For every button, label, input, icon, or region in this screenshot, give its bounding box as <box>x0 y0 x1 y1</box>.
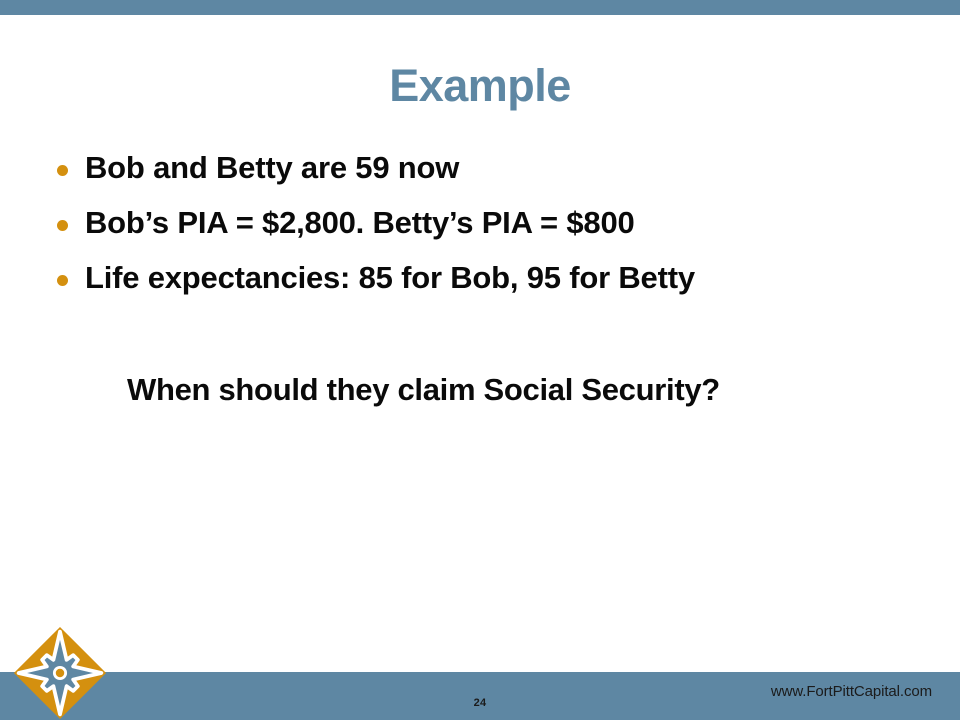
page-title: Example <box>0 62 960 109</box>
list-item-label: Bob and Betty are 59 now <box>85 150 928 187</box>
list-item-label: Bob’s PIA = $2,800. Betty’s PIA = $800 <box>85 205 928 242</box>
bullet-dot-icon <box>57 165 68 176</box>
list-item-label: Life expectancies: 85 for Bob, 95 for Be… <box>85 260 928 297</box>
footer-website-url: www.FortPittCapital.com <box>771 683 932 700</box>
list-item: Life expectancies: 85 for Bob, 95 for Be… <box>48 260 928 315</box>
presentation-slide: Example Bob and Betty are 59 now Bob’s P… <box>0 0 960 720</box>
bullet-dot-icon <box>57 220 68 231</box>
bullet-dot-icon <box>57 275 68 286</box>
top-accent-bar <box>0 0 960 15</box>
question-text: When should they claim Social Security? <box>127 372 720 409</box>
list-item: Bob’s PIA = $2,800. Betty’s PIA = $800 <box>48 205 928 260</box>
company-logo <box>12 626 108 720</box>
compass-rose-icon <box>12 626 108 720</box>
bullet-list: Bob and Betty are 59 now Bob’s PIA = $2,… <box>48 150 928 315</box>
list-item: Bob and Betty are 59 now <box>48 150 928 205</box>
